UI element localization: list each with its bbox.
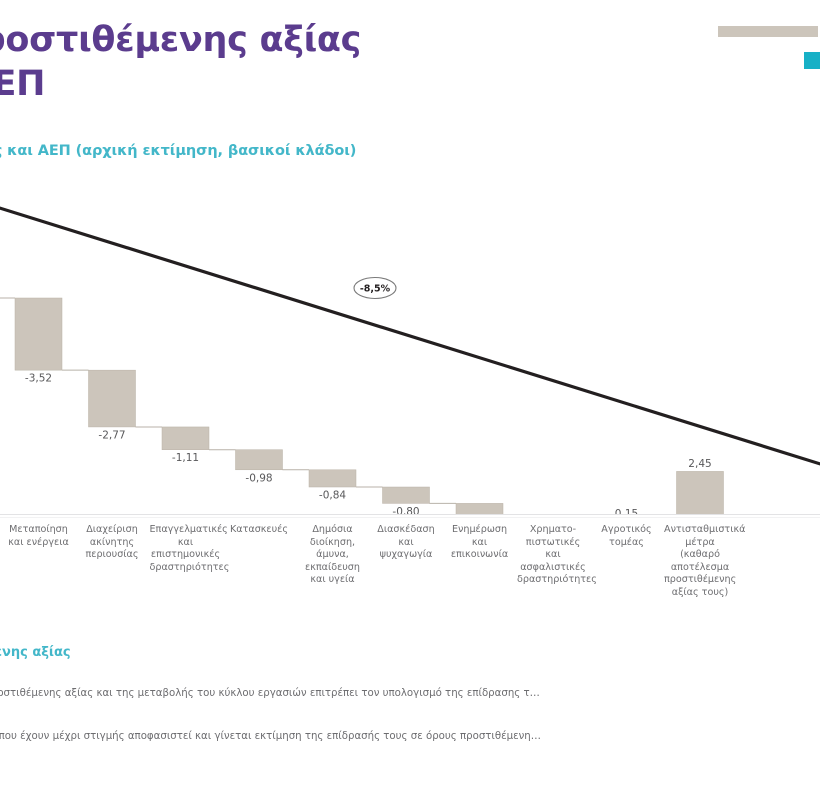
axis-divider-shadow [0, 517, 820, 518]
note-line-1: …μεταξύ της μεταβολής της προστιθέμενης … [0, 688, 540, 699]
waterfall-bar[interactable] [383, 487, 430, 503]
waterfall-bar[interactable] [89, 370, 136, 427]
axis-divider [0, 514, 820, 515]
category-label: Αγροτικός τομέας [591, 524, 663, 549]
waterfall-bar[interactable] [15, 298, 62, 370]
waterfall-bar[interactable] [309, 470, 356, 487]
page-subtitle: …οστιθέμενης αξίας και ΑΕΠ (αρχική εκτίμ… [0, 143, 540, 159]
bar-value-label: -0,98 [245, 472, 272, 484]
trend-callout: -8,5% [354, 278, 396, 299]
legend-item-bars[interactable] [718, 26, 818, 37]
waterfall-bar[interactable] [162, 427, 209, 450]
bar-value-label: -0,84 [319, 490, 346, 502]
trend-line-group [0, 205, 820, 467]
chart-svg: -3,52-2,77-1,11-0,98-0,84-0,80-0,68-0,36… [0, 185, 820, 515]
waterfall-bar[interactable] [677, 471, 724, 515]
category-label: Χρηματο- πιστωτικές και ασφαλιστικές δρα… [517, 524, 589, 587]
legend-swatch-bar-icon [718, 26, 818, 37]
category-label: Επαγγελματικές και επιστημονικές δραστηρ… [150, 524, 222, 574]
callout-label: -8,5% [360, 283, 391, 294]
notes-heading: …προστιθέμενης αξίας [0, 645, 71, 660]
bar-value-label: -3,52 [25, 373, 52, 385]
bar-value-label: 2,45 [688, 458, 711, 470]
category-label: Κατασκευές [223, 524, 295, 537]
bar-value-label: -1,11 [172, 452, 199, 464]
page-title: …ή προστιθέμενης αξίας …αι ΑΕΠ [0, 18, 502, 106]
waterfall-bars[interactable] [15, 298, 724, 515]
legend-item-line[interactable] [804, 52, 820, 69]
category-label: Ενημέρωση και επικοινωνία [444, 524, 516, 562]
legend-swatch-line-icon [804, 52, 820, 69]
trend-line [0, 205, 820, 467]
category-label: Δημόσια διοίκηση, άμυνα, εκπαίδευση και … [297, 524, 369, 587]
category-label: Αντισταθμιστικά μέτρα (καθαρό αποτέλεσμα… [664, 524, 736, 599]
waterfall-bar[interactable] [236, 450, 283, 470]
waterfall-chart[interactable]: -3,52-2,77-1,11-0,98-0,84-0,80-0,68-0,36… [0, 185, 820, 515]
note-line-2: …ων αντισταθμιστικών μέτρων που έχουν μέ… [0, 731, 541, 742]
bar-value-label: -2,77 [98, 429, 125, 441]
category-label: Διασκέδαση και ψυχαγωγία [370, 524, 442, 562]
category-label: Διαχείριση ακίνητης περιουσίας [76, 524, 148, 562]
category-label: Μεταποίηση και ενέργεια [3, 524, 75, 549]
category-axis-labels: Μεταποίηση και ενέργειαΔιαχείριση ακίνητ… [0, 524, 820, 624]
